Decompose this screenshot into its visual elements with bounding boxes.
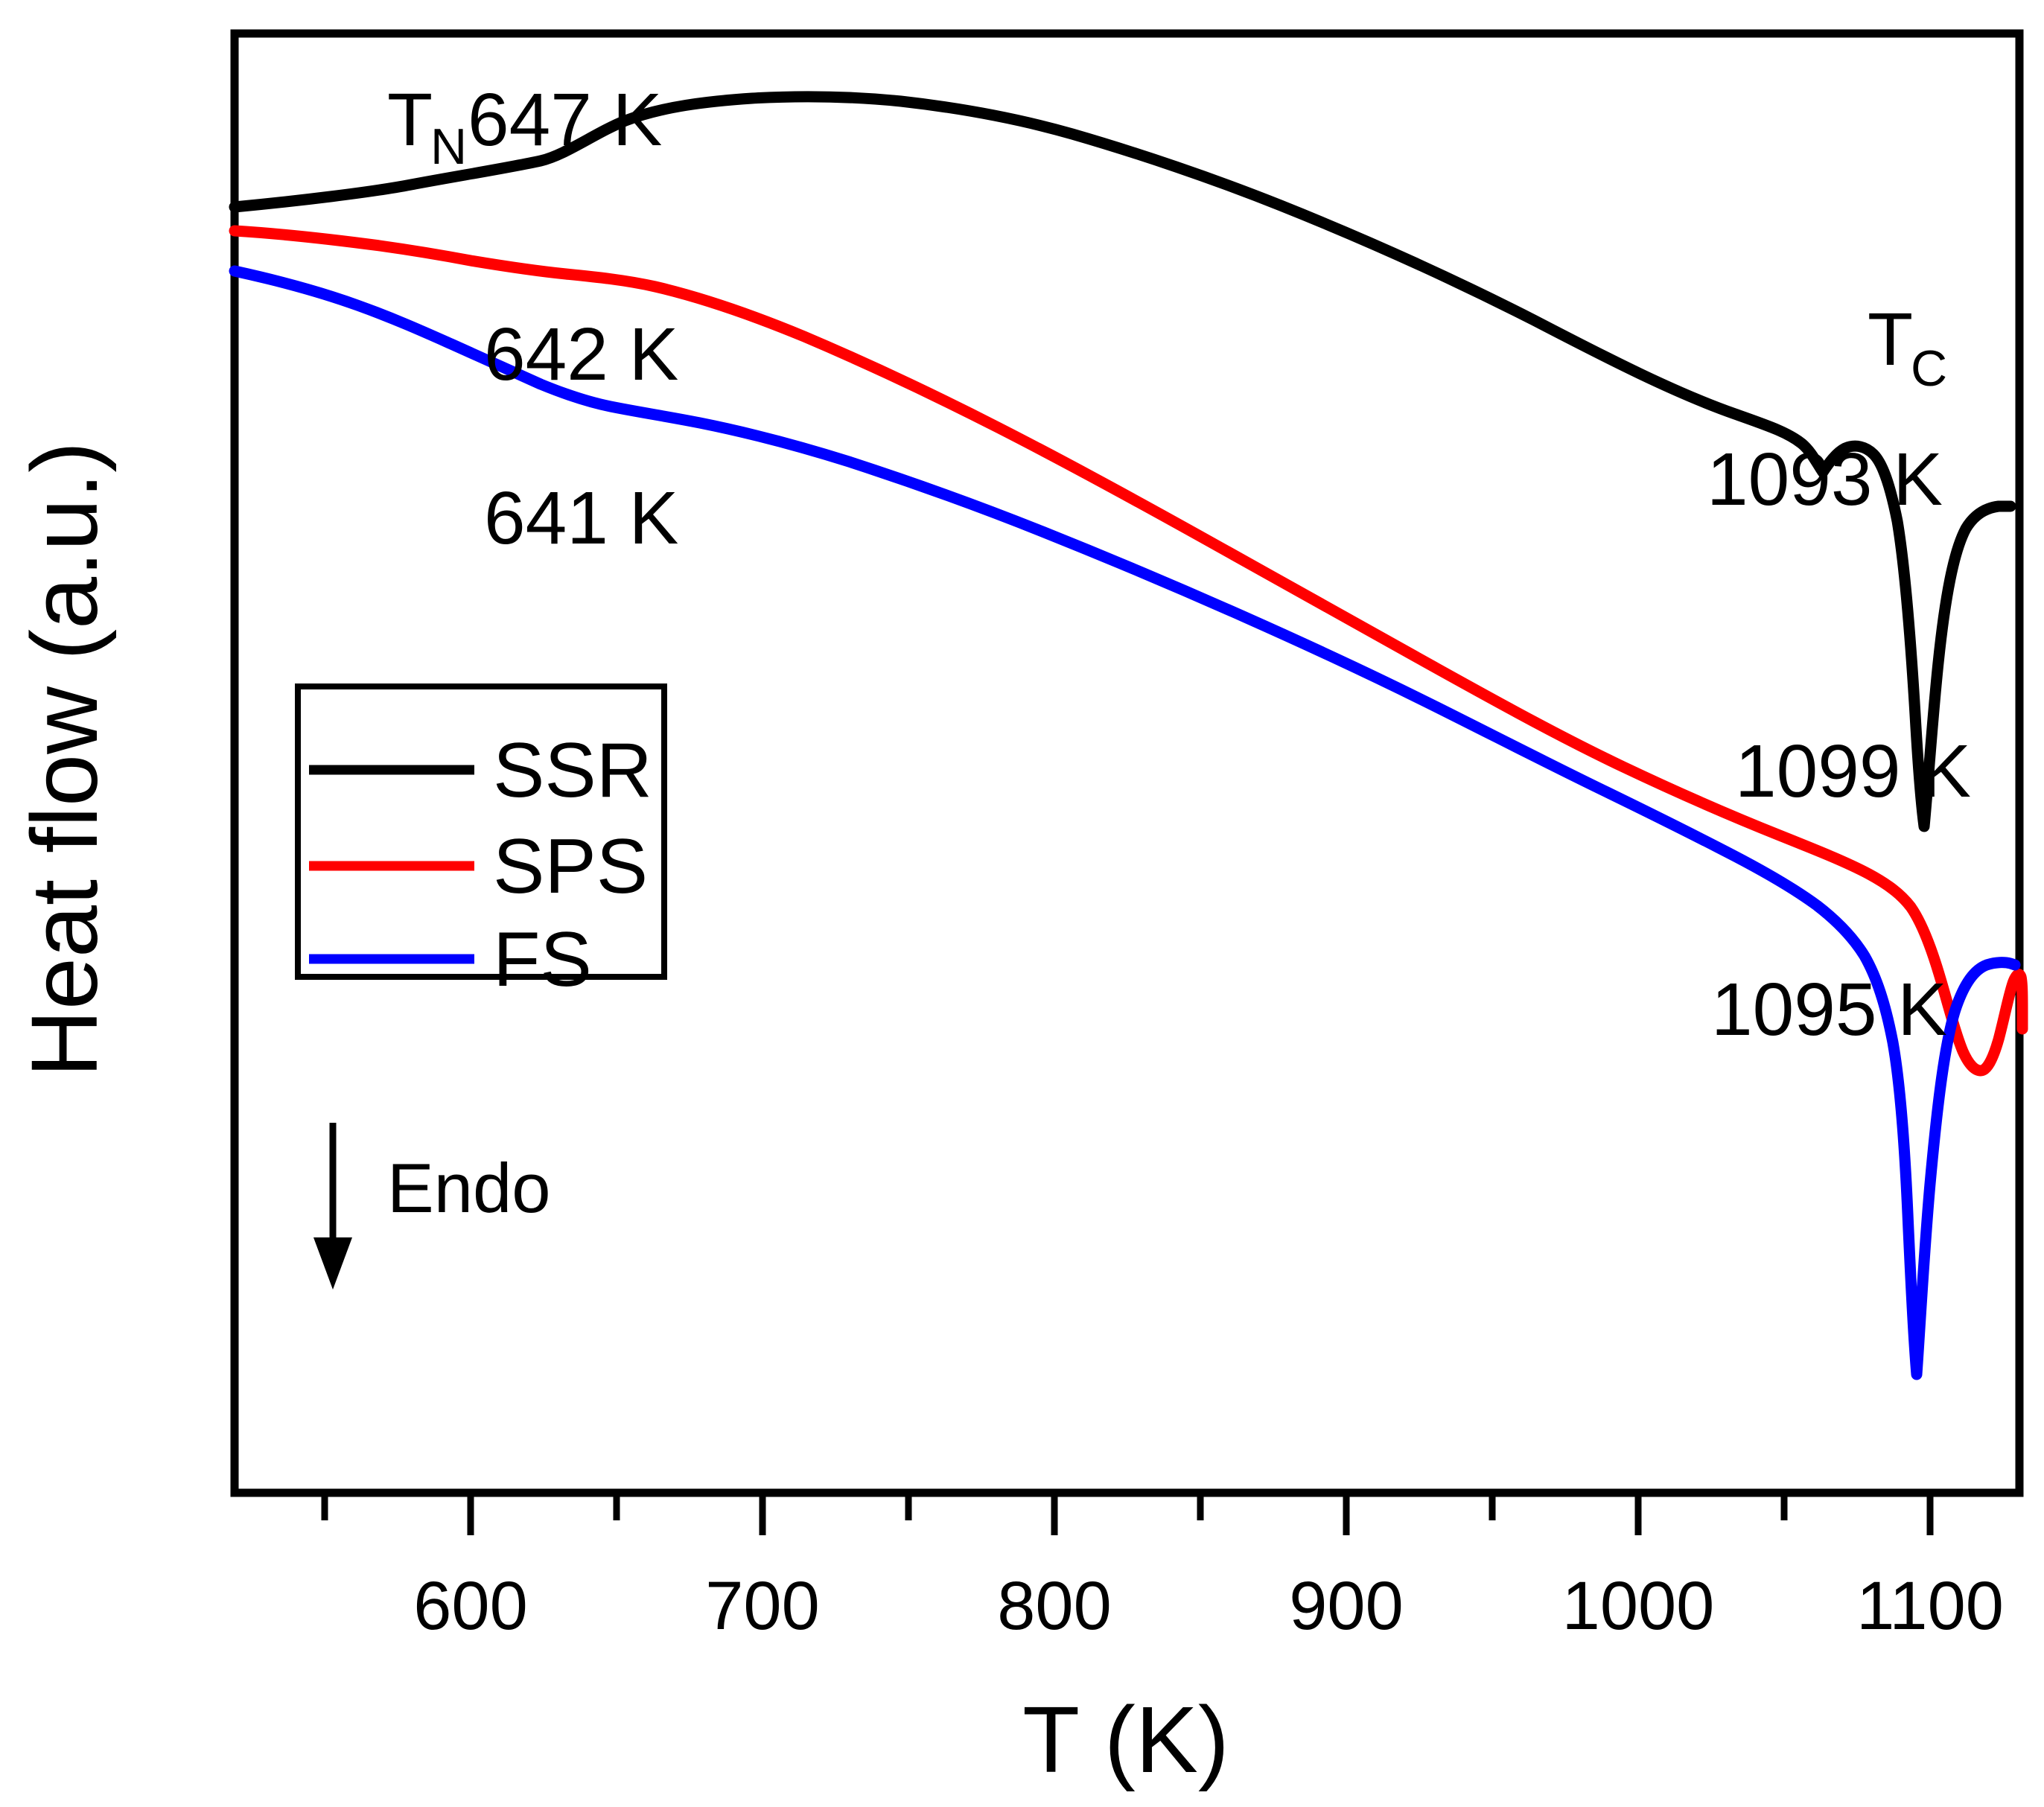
legend-label-ssr[interactable]: SSR (493, 727, 652, 814)
tc-red-value: 1099 K (1735, 730, 1971, 813)
x-tick-label: 700 (705, 1568, 820, 1644)
tn-symbol: T (387, 78, 433, 162)
legend-label-sps[interactable]: SPS (493, 823, 648, 910)
annotation-tn-black: T N 647 K (387, 78, 662, 175)
x-tick-label: 900 (1289, 1568, 1404, 1644)
x-axis-ticks (325, 1493, 1930, 1535)
tc-blue-value: 1095 K (1711, 968, 1947, 1051)
tc-black-value: 1093 K (1707, 438, 1943, 521)
y-axis-title: Heat flow (a.u.) (12, 442, 117, 1077)
dsc-thermal-analysis-figure: 600 700 800 900 1000 1100 T (K) Heat flo… (0, 0, 2044, 1807)
x-tick-labels: 600 700 800 900 1000 1100 (413, 1568, 2004, 1644)
tn-red-value: 642 K (484, 313, 678, 396)
tc-subscript: C (1911, 340, 1947, 397)
chart-canvas: 600 700 800 900 1000 1100 T (K) Heat flo… (0, 0, 2044, 1807)
endo-label: Endo (387, 1149, 551, 1227)
x-tick-label: 1100 (1856, 1568, 2004, 1644)
x-tick-label: 1000 (1562, 1568, 1715, 1644)
x-tick-label: 800 (997, 1568, 1112, 1644)
x-tick-label: 600 (413, 1568, 528, 1644)
tc-symbol: T (1868, 298, 1913, 381)
legend[interactable]: SSR SPS FS (298, 686, 664, 1003)
tn-blue-value: 641 K (484, 477, 678, 560)
tn-subscript: N (430, 118, 467, 175)
tn-black-value: 647 K (468, 78, 662, 162)
legend-label-fs[interactable]: FS (493, 917, 592, 1003)
x-axis-title: T (K) (1022, 1687, 1229, 1792)
